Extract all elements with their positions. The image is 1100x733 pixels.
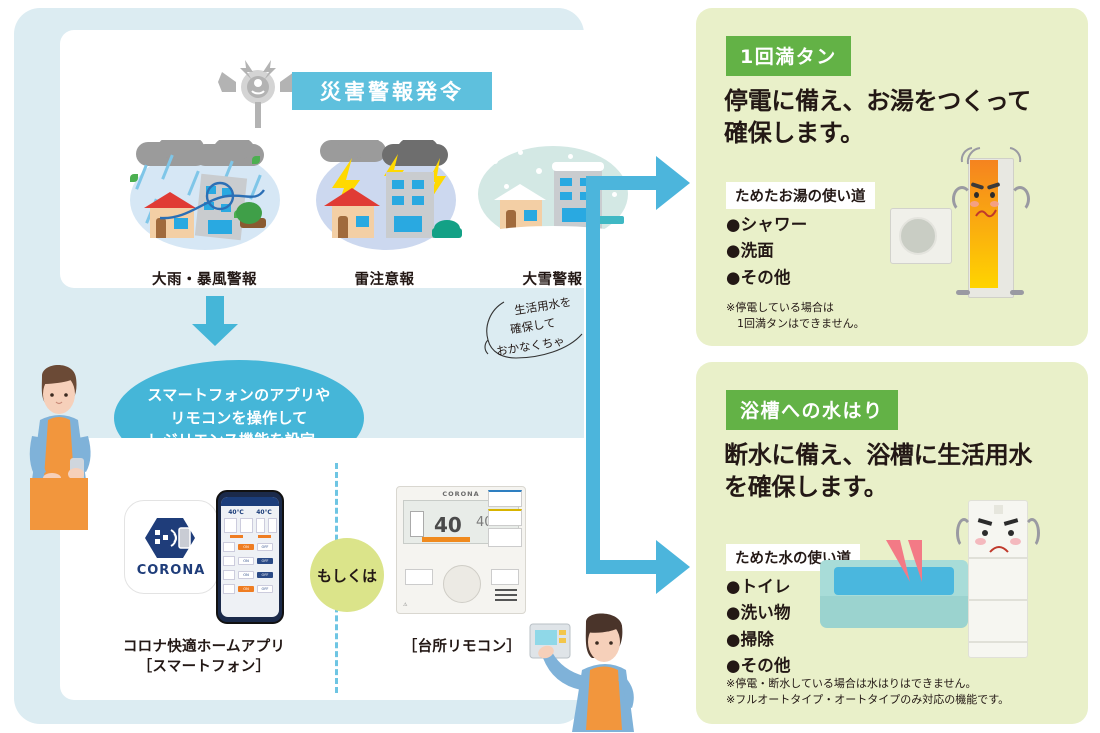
setting-bubble-line1: スマートフォンのアプリや <box>147 384 330 407</box>
arrow-down-icon <box>192 296 238 346</box>
warning-label-thunder: 雷注意報 <box>302 268 467 289</box>
app-icon-brand: CORONA <box>137 563 206 578</box>
remote-dial[interactable] <box>443 565 481 603</box>
panel-one-notes: ※停電している場合は 1回満タンはできません。 <box>726 300 865 332</box>
bathtub-front <box>820 596 968 628</box>
woman-with-smartphone-illustration <box>12 358 110 536</box>
phone-toggle-off-3[interactable]: OFF <box>257 585 273 593</box>
app-caption-line2: ［スマートフォン］ <box>109 658 299 678</box>
warning-item-thunder: 雷注意報 <box>302 140 467 289</box>
branching-right-arrow-icon <box>586 150 696 600</box>
remote-big-temp: 40 <box>434 513 462 537</box>
alert-banner-label: 災害警報発令 <box>320 76 464 106</box>
phone-toggle-on-2[interactable]: ON <box>238 571 254 579</box>
corona-app-icon[interactable]: CORONA <box>124 500 218 594</box>
panel-two-bullet-2: ●掃除 <box>726 627 791 653</box>
phone-toggle-on-0[interactable]: ON <box>238 544 254 550</box>
panel-one-usebox-label: ためたお湯の使い道 <box>735 189 866 205</box>
phone-toggle-on-3[interactable]: ON <box>238 586 254 592</box>
app-caption-line1: コロナ快適ホームアプリ <box>109 638 299 658</box>
panel-two-notes: ※停電・断水している場合は水はりはできません。 ※フルオートタイプ・オートタイプ… <box>726 676 1009 708</box>
panel-two-bullets: ●トイレ ●洗い物 ●掃除 ●その他 <box>726 574 791 680</box>
panel-one-bullet-0: ●シャワー <box>726 212 807 238</box>
woman-pointing-at-remote-illustration <box>524 612 644 732</box>
warning-label-rain: 大雨・暴風警報 <box>122 268 287 289</box>
panel-two-header: 浴槽への水はり <box>726 390 898 430</box>
remote-caption: ［台所リモコン］ <box>392 638 532 658</box>
phone-toggle-off-1[interactable]: OFF <box>257 558 273 564</box>
thunder-scene <box>302 140 467 260</box>
panel-one-header-label: 1回満タン <box>740 46 837 68</box>
water-jet-icon <box>882 540 942 586</box>
panel-one-usebox: ためたお湯の使い道 <box>726 182 875 209</box>
phone-temp-left: 40℃ <box>228 509 244 516</box>
phone-toggle-off-2[interactable]: OFF <box>257 572 273 578</box>
tank-front-gradient <box>970 160 998 288</box>
panel-two-title: 断水に備え、浴槽に生活用水 を確保します。 <box>724 440 1064 503</box>
alert-banner: 災害警報発令 <box>292 72 492 110</box>
panel-two-bullet-1: ●洗い物 <box>726 600 791 626</box>
panel-two-title-line1: 断水に備え、浴槽に生活用水 <box>724 440 1064 472</box>
setting-bubble-line2: リモコンを操作して <box>170 407 307 430</box>
panel-one-bullet-1: ●洗面 <box>726 238 807 264</box>
panel-two-bullet-0: ●トイレ <box>726 574 791 600</box>
panel-two-header-label: 浴槽への水はり <box>740 400 884 422</box>
siren-icon <box>212 58 304 132</box>
heavy-rain-storm-scene <box>122 140 287 260</box>
warning-item-rain: 大雨・暴風警報 <box>122 140 287 289</box>
disaster-alert-card: 災害警報発令 <box>60 30 590 288</box>
water-tank-character-with-bathtub <box>968 500 1034 662</box>
phone-toggle-on-1[interactable]: ON <box>238 557 254 565</box>
panel-one-tank-fill: 1回満タン 停電に備え、お湯をつくって 確保します。 ためたお湯の使い道 ●シャ… <box>696 8 1088 346</box>
alternative-badge: もしくは <box>310 538 384 612</box>
panel-one-note-0: ※停電している場合は <box>726 300 865 316</box>
panel-one-title: 停電に備え、お湯をつくって 確保します。 <box>724 86 1064 149</box>
panel-one-header: 1回満タン <box>726 36 851 76</box>
phone-screen: 40℃ 40℃ ON OFF ON OFF <box>221 497 279 617</box>
panel-two-note-0: ※停電・断水している場合は水はりはできません。 <box>726 676 1009 692</box>
outdoor-unit-illustration <box>890 208 952 264</box>
app-caption: コロナ快適ホームアプリ ［スマートフォン］ <box>109 638 299 677</box>
panel-one-title-line1: 停電に備え、お湯をつくって <box>724 86 1064 118</box>
panel-one-bullets: ●シャワー ●洗面 ●その他 <box>726 212 807 291</box>
panel-two-note-1: ※フルオートタイプ・オートタイプのみ対応の機能です。 <box>726 692 1009 708</box>
speech-bubble: 生活用水を 確保して おかなくちゃ <box>488 292 588 372</box>
panel-one-bullet-2: ●その他 <box>726 265 807 291</box>
phone-temp-right: 40℃ <box>256 509 272 516</box>
smartphone-mockup[interactable]: 40℃ 40℃ ON OFF ON OFF <box>216 490 284 624</box>
panel-one-note-1: 1回満タンはできません。 <box>726 316 865 332</box>
app-hexagon-glyph <box>143 516 199 560</box>
outdoor-unit-fan <box>899 217 937 255</box>
panel-two-title-line2: を確保します。 <box>724 472 1064 504</box>
alternative-badge-label: もしくは <box>317 565 377 586</box>
hot-water-tank-character <box>958 148 1028 308</box>
kitchen-remote-mockup[interactable]: CORONA 40 40 ⚠ <box>396 486 526 614</box>
phone-toggle-off-0[interactable]: OFF <box>257 543 273 551</box>
